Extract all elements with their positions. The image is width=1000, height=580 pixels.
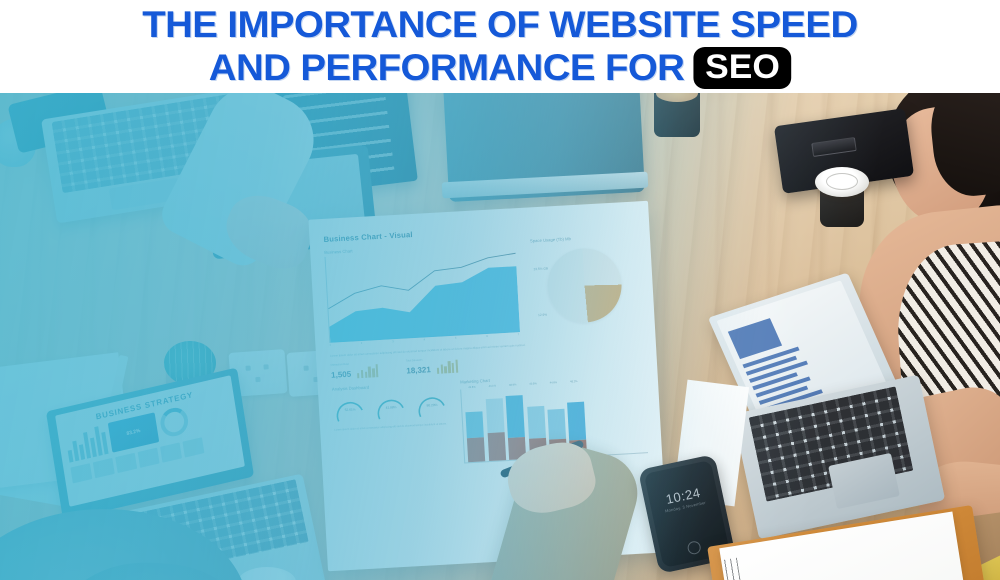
chart-document-footnote: Lorem ipsum dolor sit amet consectetur a… xyxy=(334,422,452,433)
banner-header: THE IMPORTANCE OF WEBSITE SPEED AND PERF… xyxy=(0,0,1000,93)
area-chart-svg xyxy=(326,246,521,342)
pie-chart xyxy=(546,246,624,324)
stat-block-2: Total Sessions 18,321 xyxy=(406,357,459,376)
stat-block-1: Interaction Data 1,505 xyxy=(331,361,379,380)
area-chart-block: Business Chart 1 2 3 4 5 6 xyxy=(324,239,525,347)
stat-2-sparkbars xyxy=(436,360,458,374)
seo-badge: SEO xyxy=(694,47,792,89)
seo-banner: THE IMPORTANCE OF WEBSITE SPEED AND PERF… xyxy=(0,0,1000,580)
title-line-2-row: AND PERFORMANCE FOR SEO xyxy=(209,46,791,89)
stat-1-sparkbars xyxy=(357,364,379,378)
desk-photo: BUSINESS STRATEGY 83.2% Business Char xyxy=(0,93,1000,580)
gauge-1: 52.61% xyxy=(332,396,367,424)
analysis-dashboard-block: Analysis Dashboard 52.61% 41.88% 80.2 xyxy=(332,380,455,470)
title-line-2: AND PERFORMANCE FOR xyxy=(209,46,685,89)
coffee-cup-right-lid-ring xyxy=(826,173,858,190)
marketing-bar xyxy=(485,387,506,461)
smartphone-home-indicator xyxy=(686,540,701,555)
marketing-bar xyxy=(505,386,526,460)
strategy-donut-chart xyxy=(158,405,190,439)
socket-hole xyxy=(263,364,268,369)
socket-hole xyxy=(245,366,250,371)
pie-chart-label: Space Usage (Tb) Mb xyxy=(530,233,634,244)
socket-hole xyxy=(255,377,260,382)
area-chart xyxy=(325,246,520,342)
gauge-2: 41.88% xyxy=(373,394,408,422)
title-line-1: THE IMPORTANCE OF WEBSITE SPEED xyxy=(142,3,857,46)
gauge-row: 52.61% 41.88% 80.23% xyxy=(332,391,452,424)
pie-slice-b-label: 12.9% xyxy=(538,313,547,317)
gauge-3: 80.23% xyxy=(414,391,449,419)
stat-2-value: 18,321 xyxy=(406,365,431,375)
pie-slice-a-label: 23.5% GB xyxy=(533,266,548,271)
strategy-kpi-card: 83.2% xyxy=(108,412,159,453)
macbook-ui-panel xyxy=(728,318,782,359)
analysis-dashboard-label: Analysis Dashboard xyxy=(332,380,451,392)
strategy-bar-chart xyxy=(65,424,109,463)
socket-hole xyxy=(303,366,308,371)
contract-text-lines xyxy=(719,558,766,580)
pie-chart-block: Space Usage (Tb) Mb 23.5% GB 12.9% xyxy=(530,233,639,336)
stat-1-value: 1,505 xyxy=(331,370,352,380)
marketing-bar xyxy=(465,389,486,463)
chart-document-top-row: Business Chart 1 2 3 4 5 6 xyxy=(324,233,641,347)
